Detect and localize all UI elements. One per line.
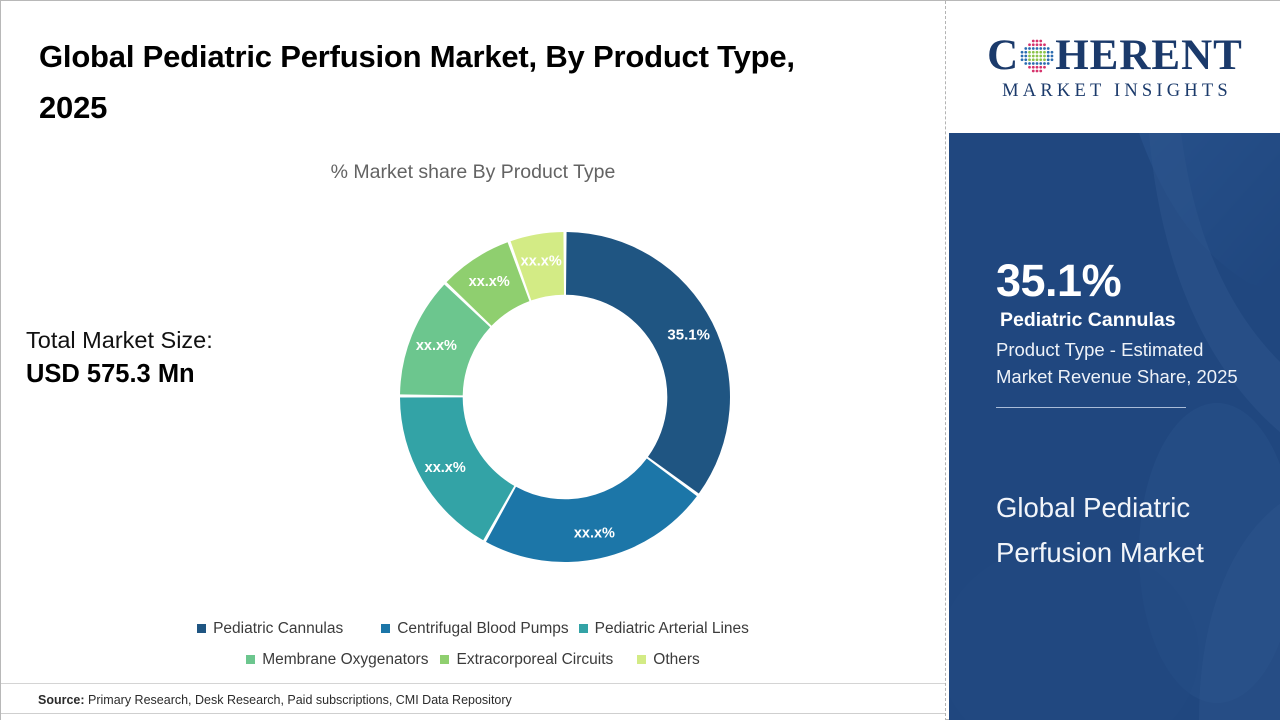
- legend-item-centrifugal-blood-pumps[interactable]: Centrifugal Blood Pumps: [381, 620, 568, 638]
- legend-swatch-icon: [381, 624, 390, 633]
- legend-label: Pediatric Arterial Lines: [595, 620, 749, 638]
- legend-row-2: Membrane Oxygenators Extracorporeal Circ…: [1, 644, 945, 675]
- legend-item-others[interactable]: Others: [637, 651, 700, 669]
- footer-divider: [1, 683, 945, 684]
- legend-item-pediatric-cannulas[interactable]: Pediatric Cannulas: [197, 620, 343, 638]
- legend-item-pediatric-arterial-lines[interactable]: Pediatric Arterial Lines: [579, 620, 749, 638]
- legend-item-membrane-oxygenators[interactable]: Membrane Oxygenators: [246, 651, 428, 669]
- donut-slice-label: xx.x%: [521, 253, 562, 269]
- sidebar-highlight-panel: 35.1% Pediatric Cannulas Product Type - …: [949, 133, 1280, 720]
- legend-label: Pediatric Cannulas: [213, 620, 343, 638]
- legend-label: Others: [653, 651, 700, 669]
- panel-divider: [945, 1, 947, 720]
- stat-segment-name: Pediatric Cannulas: [996, 306, 1262, 335]
- total-market-size-block: Total Market Size: USD 575.3 Mn: [26, 323, 346, 393]
- legend-swatch-icon: [579, 624, 588, 633]
- stat-percent-value: 35.1%: [996, 257, 1262, 306]
- footer-bottom-divider: [1, 713, 945, 714]
- legend-swatch-icon: [440, 655, 449, 664]
- sidebar: C HERENT MARKET INSIGHTS: [949, 1, 1280, 720]
- stat-block: 35.1% Pediatric Cannulas Product Type - …: [996, 257, 1262, 408]
- legend-swatch-icon: [246, 655, 255, 664]
- donut-slice[interactable]: [566, 232, 730, 494]
- legend-label: Extracorporeal Circuits: [456, 651, 613, 669]
- logo-letters-herent: HERENT: [1055, 34, 1243, 77]
- chart-legend: Pediatric Cannulas Centrifugal Blood Pum…: [1, 613, 945, 675]
- donut-chart-svg: 35.1%xx.x%xx.x%xx.x%xx.x%xx.x%: [391, 223, 739, 571]
- legend-label: Membrane Oxygenators: [262, 651, 428, 669]
- stat-divider: [996, 407, 1186, 408]
- donut-slice-label: xx.x%: [416, 338, 457, 354]
- background-photo-overlay: [949, 133, 1280, 720]
- chart-panel: Global Pediatric Perfusion Market, By Pr…: [1, 1, 945, 720]
- infographic-slide: Global Pediatric Perfusion Market, By Pr…: [0, 0, 1280, 720]
- donut-slices: [400, 232, 730, 562]
- source-label: Source:: [38, 693, 85, 707]
- chart-subtitle: % Market share By Product Type: [1, 161, 945, 184]
- stat-description: Product Type - Estimated Market Revenue …: [996, 336, 1262, 390]
- logo-tagline: MARKET INSIGHTS: [998, 81, 1232, 102]
- source-note: Source: Primary Research, Desk Research,…: [38, 693, 512, 707]
- page-title: Global Pediatric Perfusion Market, By Pr…: [39, 31, 869, 133]
- logo-letter-c: C: [987, 34, 1019, 77]
- donut-slice-label: xx.x%: [425, 460, 466, 476]
- legend-row-1: Pediatric Cannulas Centrifugal Blood Pum…: [1, 613, 945, 644]
- total-market-size-label: Total Market Size:: [26, 323, 346, 357]
- globe-icon: [1020, 39, 1054, 73]
- donut-chart: 35.1%xx.x%xx.x%xx.x%xx.x%xx.x%: [391, 223, 739, 571]
- brand-logo[interactable]: C HERENT MARKET INSIGHTS: [949, 1, 1280, 133]
- total-market-size-value: USD 575.3 Mn: [26, 357, 346, 393]
- source-text: Primary Research, Desk Research, Paid su…: [88, 693, 512, 707]
- legend-swatch-icon: [637, 655, 646, 664]
- logo-wordmark: C HERENT: [987, 32, 1243, 78]
- donut-slice-label: 35.1%: [667, 326, 710, 343]
- market-name-heading: Global Pediatric Perfusion Market: [996, 485, 1246, 575]
- legend-swatch-icon: [197, 624, 206, 633]
- donut-slice-label: xx.x%: [469, 274, 510, 290]
- legend-label: Centrifugal Blood Pumps: [397, 620, 568, 638]
- legend-item-extracorporeal-circuits[interactable]: Extracorporeal Circuits: [440, 651, 613, 669]
- donut-slice[interactable]: [486, 458, 697, 562]
- donut-slice-label: xx.x%: [574, 526, 615, 542]
